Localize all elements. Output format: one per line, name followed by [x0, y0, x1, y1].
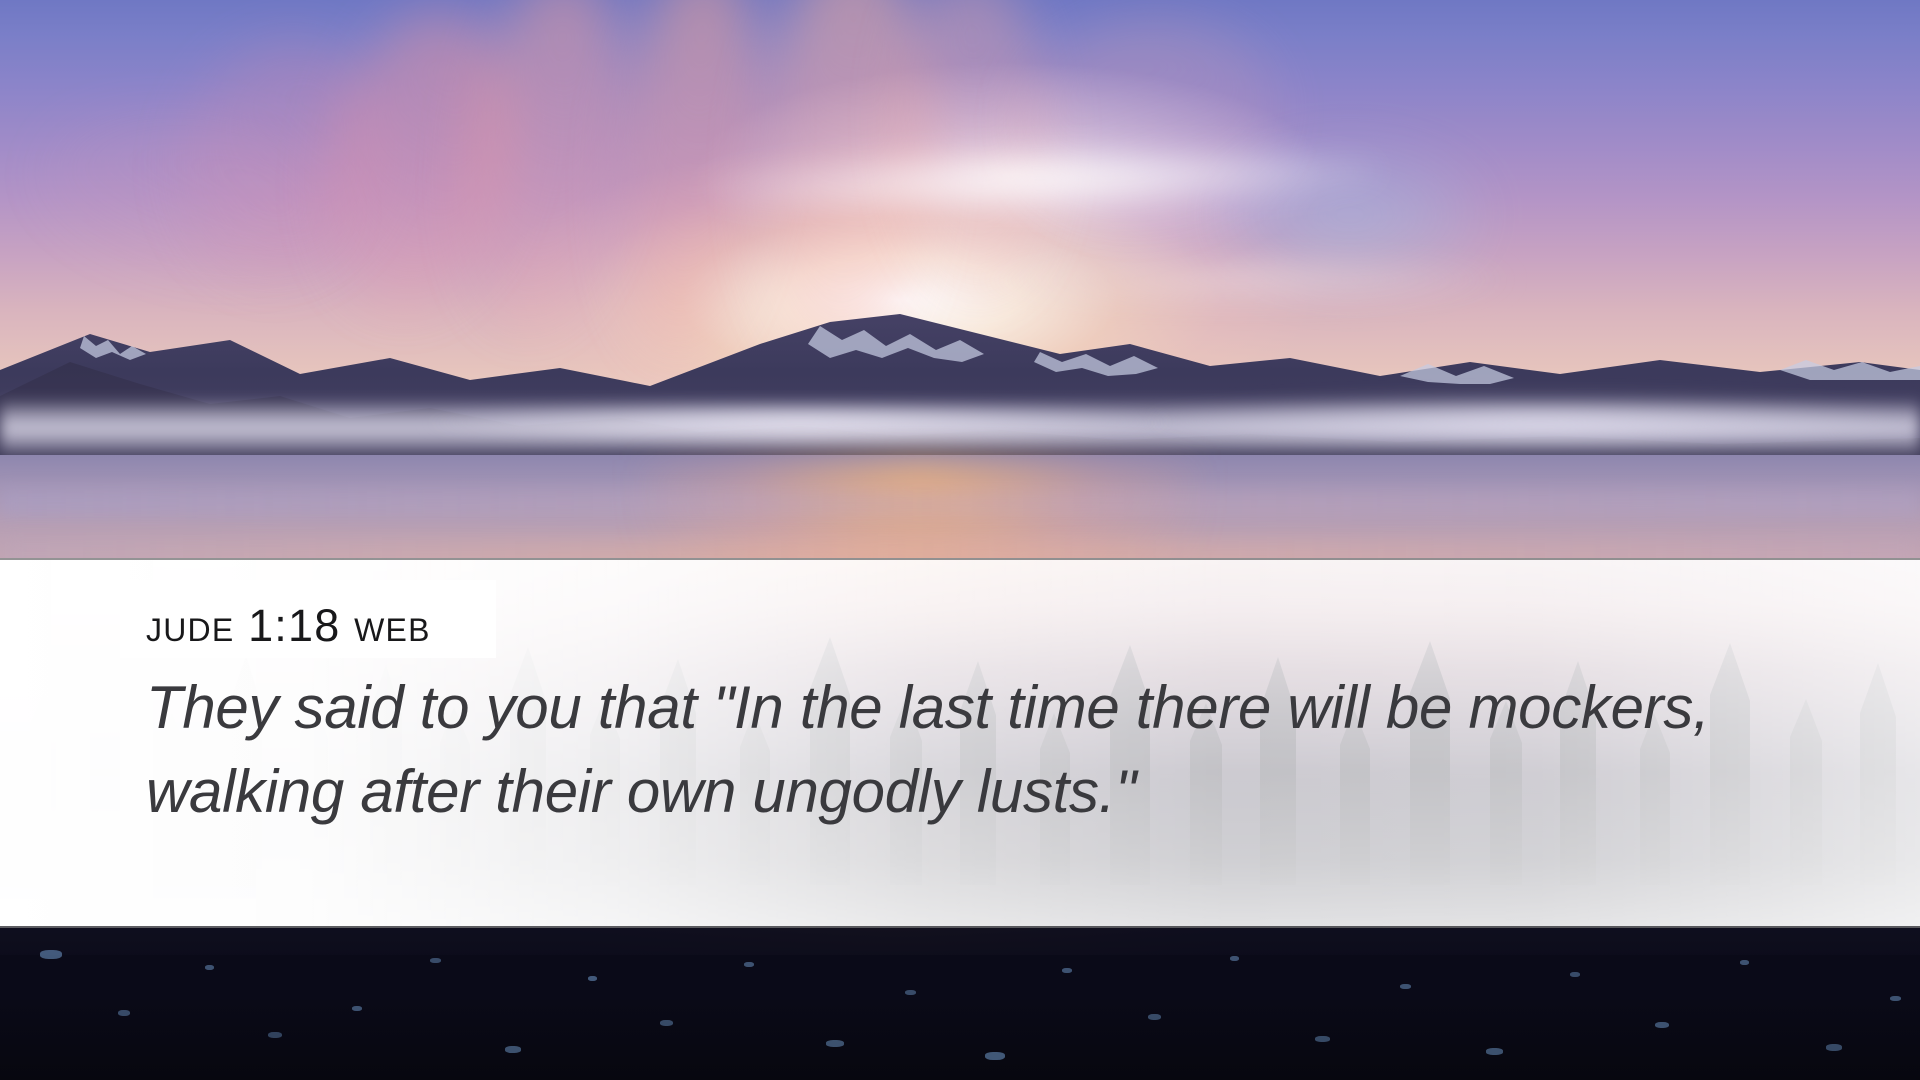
snow-speck [205, 965, 214, 970]
verse-text-container: Jude 1:18 WEB They said to you that "In … [0, 558, 1920, 928]
snow-speck [1148, 1014, 1161, 1020]
snow-speck [826, 1040, 844, 1047]
sun-glow-streak-lower [960, 260, 1520, 300]
snow-speck [1062, 968, 1072, 973]
fog-patch-right [1150, 398, 1920, 444]
snow-speck [118, 1010, 130, 1016]
snow-speck [430, 958, 441, 963]
snow-speck [1826, 1044, 1842, 1051]
snow-speck [505, 1046, 521, 1053]
snow-speck [1486, 1048, 1503, 1055]
snow-speck [1570, 972, 1580, 977]
snow-speck [1230, 956, 1239, 961]
verse-text: They said to you that "In the last time … [146, 666, 1806, 834]
snow-speck [268, 1032, 282, 1038]
snow-speck [40, 950, 62, 959]
snow-speck [352, 1006, 362, 1011]
snow-speck [905, 990, 916, 995]
snow-speck [1315, 1036, 1330, 1042]
verse-reference-block: Jude 1:18 WEB [146, 598, 431, 654]
fog-patch-left [420, 405, 1180, 441]
snow-speck [1400, 984, 1411, 989]
snow-speck [744, 962, 754, 967]
snow-speck [1655, 1022, 1669, 1028]
snow-speck [1740, 960, 1749, 965]
snow-speck [985, 1052, 1005, 1060]
snow-speck [660, 1020, 673, 1026]
verse-line-1: They said to you that "In the last time … [146, 674, 1452, 741]
water-ripple-band [0, 490, 1920, 516]
verse-reference: Jude 1:18 WEB [146, 598, 431, 654]
verse-image-canvas: Jude 1:18 WEB They said to you that "In … [0, 0, 1920, 1080]
snow-speck [1890, 996, 1901, 1001]
snow-speck [588, 976, 597, 981]
